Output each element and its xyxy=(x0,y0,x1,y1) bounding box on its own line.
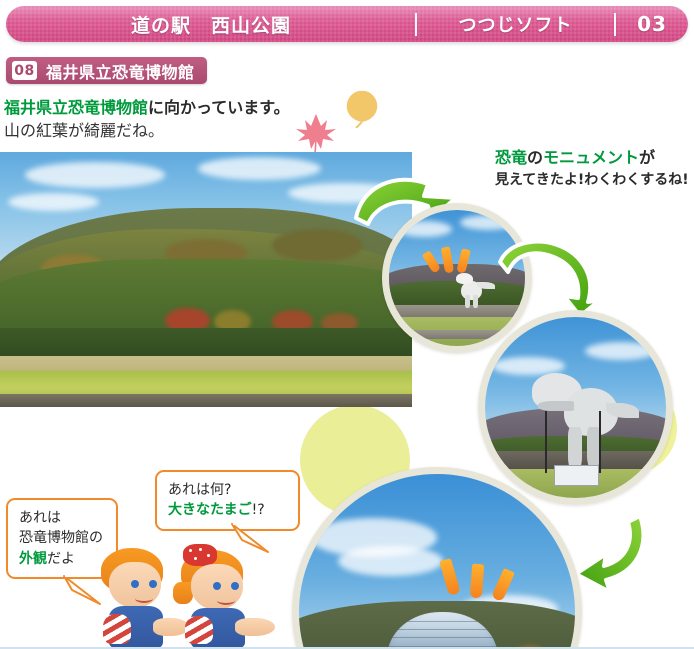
girl-arm xyxy=(235,618,275,636)
boy-eye xyxy=(131,580,139,588)
intro-line1-rest: に向かっています。 xyxy=(148,98,290,117)
intro-highlight: 福井県立恐竜博物館 xyxy=(4,98,148,117)
boy-bubble-line-3: 外観だよ xyxy=(19,549,105,569)
boy-bubble-line-2: 恐竜博物館の xyxy=(19,528,105,548)
boy-mouth xyxy=(135,594,153,603)
girl-sleeve xyxy=(185,616,213,644)
cloud xyxy=(25,162,165,188)
intro-line-2: 山の紅葉が綺麗だね。 xyxy=(4,119,334,142)
landscape-photo xyxy=(0,152,412,407)
header-bar: 道の駅 西山公園 つつじソフト 03 xyxy=(6,6,688,42)
dinosaur-statue-icon xyxy=(449,271,495,308)
boy-eye xyxy=(149,580,157,588)
header-title: 道の駅 西山公園 xyxy=(6,6,416,42)
intro-line-1: 福井県立恐竜博物館に向かっています。 xyxy=(4,96,334,119)
callout-highlight-2: モニュメント xyxy=(543,148,639,167)
girl-eye xyxy=(231,582,239,590)
boy-sleeve xyxy=(103,614,131,644)
girl-bubble-line-1: あれは何? xyxy=(168,480,287,500)
maple-leaf-icon xyxy=(294,108,338,154)
cloud xyxy=(8,193,99,211)
autumn-foliage xyxy=(272,229,363,262)
section-badge-number: 08 xyxy=(12,61,37,80)
support-pole xyxy=(545,411,547,473)
dinosaur-statue-icon xyxy=(532,364,637,473)
flash-dome xyxy=(443,557,526,618)
support-pole xyxy=(599,411,601,473)
girl-mouth xyxy=(217,596,235,605)
header-subtitle: つつじソフト xyxy=(418,6,613,42)
intro-text: 福井県立恐竜博物館に向かっています。 山の紅葉が綺麗だね。 xyxy=(4,96,334,142)
boy-bubble-line-1: あれは xyxy=(19,508,105,528)
header-divider-1 xyxy=(415,13,417,36)
road xyxy=(0,394,412,407)
boy-bubble-rest: だよ xyxy=(47,551,75,567)
museum-dome-photo xyxy=(292,467,582,649)
girl-bubble: あれは何? 大きなたまご!? xyxy=(155,470,300,531)
callout-monument-line-1: 恐竜のモニュメントが xyxy=(495,146,694,170)
callout-monument: 恐竜のモニュメントが 見えてきたよ!わくわくするね! xyxy=(495,146,694,191)
section-badge: 08 福井県立恐竜博物館 xyxy=(6,57,207,84)
ginkgo-leaf-icon xyxy=(342,88,382,128)
girl-ribbon xyxy=(183,544,217,566)
cloud xyxy=(198,157,322,180)
callout-mid-1: の xyxy=(527,148,543,167)
girl-bubble-highlight: 大きなたまご xyxy=(168,502,252,518)
callout-highlight-1: 恐竜 xyxy=(495,148,527,167)
cloud xyxy=(338,546,443,576)
girl-eye xyxy=(213,582,221,590)
header-page-number: 03 xyxy=(616,6,688,42)
callout-mid-2: が xyxy=(639,148,655,167)
boy-bubble-highlight: 外観 xyxy=(19,551,47,567)
flash-monument xyxy=(426,241,483,271)
cloud xyxy=(397,221,451,237)
girl-ponytail xyxy=(173,582,193,604)
girl-bubble-line-2: 大きなたまご!? xyxy=(168,500,287,520)
callout-monument-line-2: 見えてきたよ!わくわくするね! xyxy=(495,170,694,191)
section-badge-label: 福井県立恐竜博物館 xyxy=(46,59,195,83)
arrow-2 xyxy=(494,232,610,318)
girl-bubble-rest: !? xyxy=(252,502,265,518)
page-stage: 道の駅 西山公園 つつじソフト 03 08 福井県立恐竜博物館 福井県立恐竜博物… xyxy=(0,0,694,649)
girl-character xyxy=(175,548,293,649)
